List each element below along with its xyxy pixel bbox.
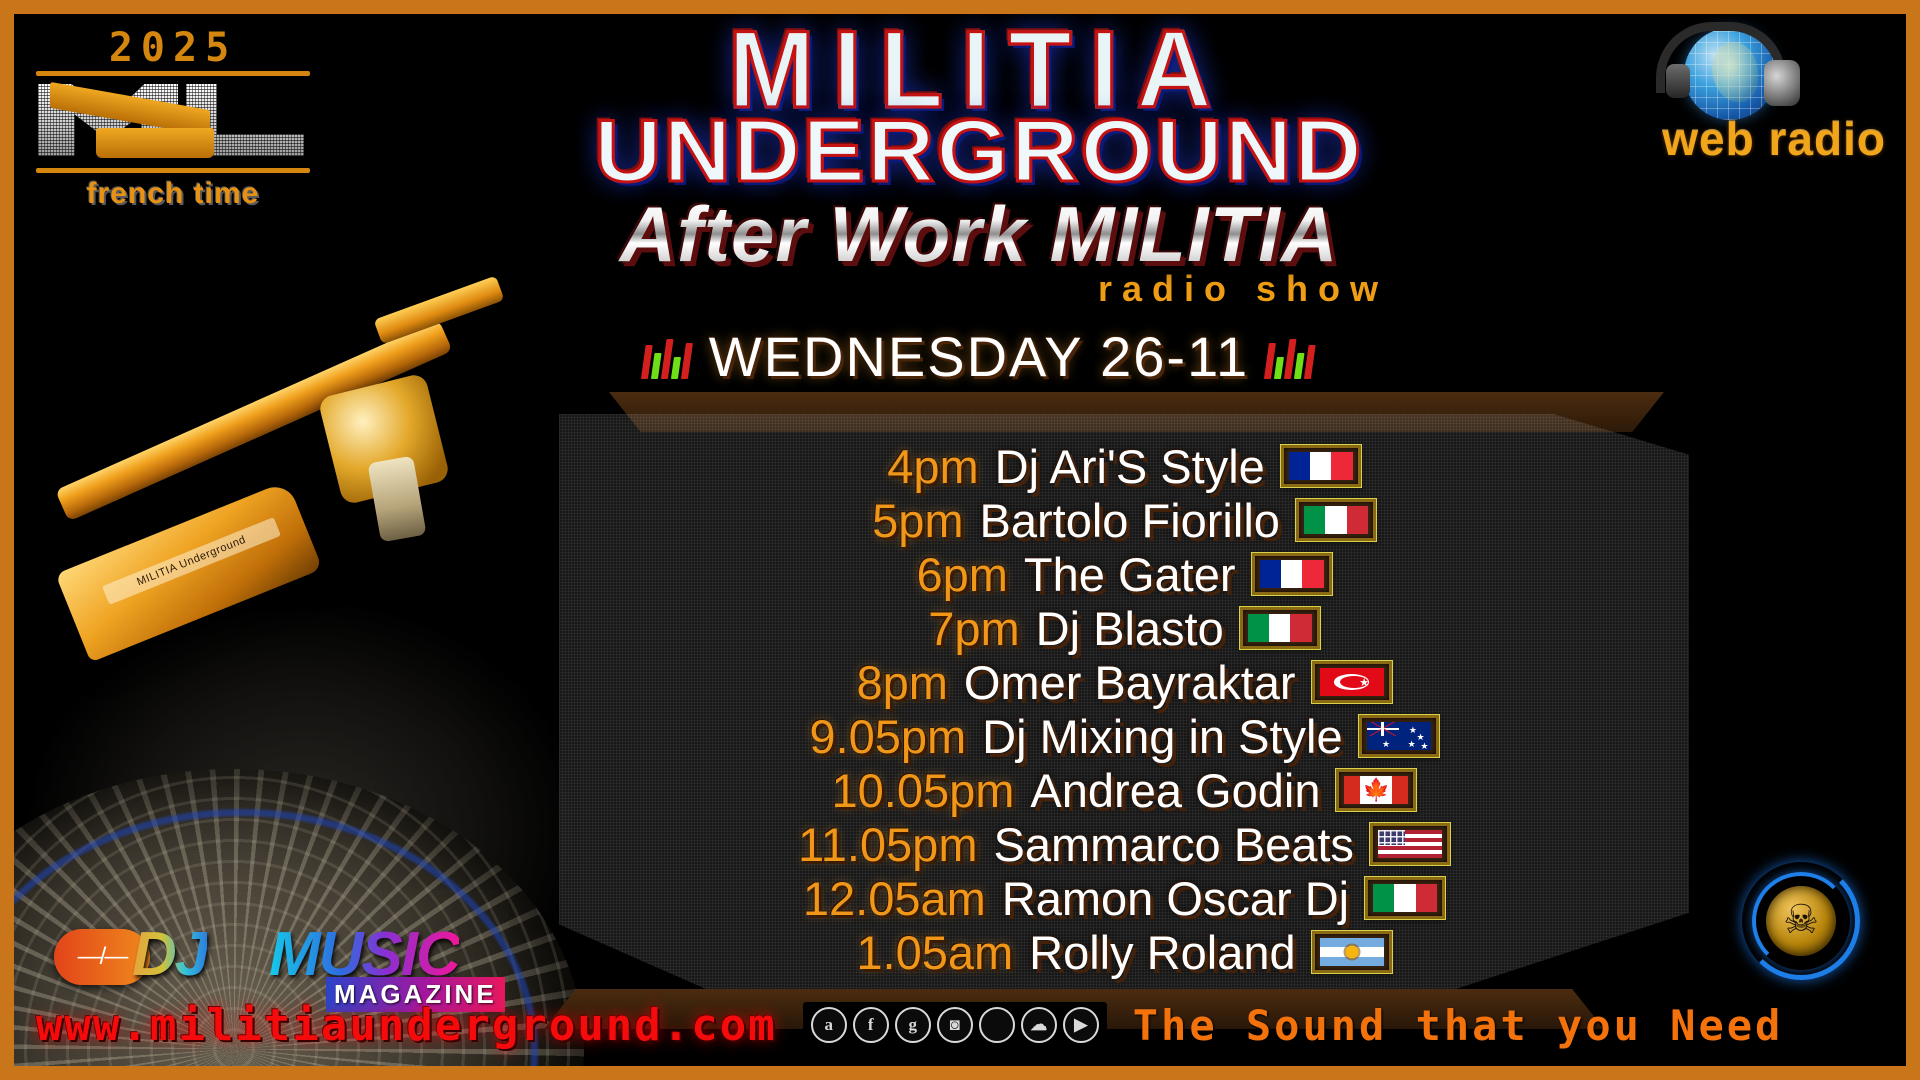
schedule-row[interactable]: 12.05amRamon Oscar Dj bbox=[559, 871, 1689, 925]
equalizer-bar bbox=[1304, 345, 1316, 379]
equalizer-bar bbox=[671, 357, 681, 379]
facebook-icon[interactable]: f bbox=[853, 1007, 889, 1043]
footer-bar: www.militiaunderground.com afg◙☁▶ The So… bbox=[14, 996, 1906, 1054]
turkey-flag-icon: ★ bbox=[1312, 661, 1392, 703]
schedule-dj-name: Bartolo Fiorillo bbox=[980, 493, 1280, 548]
schedule-time: 7pm bbox=[928, 601, 1019, 656]
equalizer-bar bbox=[1274, 357, 1284, 379]
social-icon-row: afg◙☁▶ bbox=[803, 1002, 1107, 1048]
france-flag-icon bbox=[1252, 553, 1332, 595]
title-block: MILITIA UNDERGROUND After Work MILITIA r… bbox=[314, 22, 1644, 310]
google-plus-icon[interactable]: g bbox=[895, 1007, 931, 1043]
tagline-label: The Sound that you Need bbox=[1133, 1001, 1784, 1050]
mu-monogram-icon bbox=[38, 80, 308, 166]
date-label: WEDNESDAY 26-11 bbox=[709, 324, 1249, 389]
italy-flag-icon bbox=[1296, 499, 1376, 541]
monogram-slash-lower bbox=[96, 128, 214, 158]
poster-root: MILITIA Underground 2025 french time web… bbox=[0, 0, 1920, 1080]
schedule-time: 10.05pm bbox=[832, 763, 1015, 818]
argentina-flag-icon bbox=[1312, 931, 1392, 973]
schedule-row[interactable]: 4pmDj Ari'S Style bbox=[559, 439, 1689, 493]
schedule-row[interactable]: 10.05pmAndrea Godin🍁 bbox=[559, 763, 1689, 817]
schedule-time: 6pm bbox=[916, 547, 1007, 602]
equalizer-bar bbox=[1294, 353, 1305, 379]
apple-icon[interactable] bbox=[979, 1007, 1015, 1043]
youtube-icon[interactable]: ▶ bbox=[1063, 1007, 1099, 1043]
schedule-time: 12.05am bbox=[803, 871, 986, 926]
headphone-cup-right bbox=[1764, 60, 1800, 106]
schedule-dj-name: Rolly Roland bbox=[1029, 925, 1295, 980]
sponsor-dj-text: DJ bbox=[132, 919, 207, 990]
schedule-row[interactable]: 8pmOmer Bayraktar★ bbox=[559, 655, 1689, 709]
equalizer-bars-icon-left bbox=[641, 335, 694, 379]
website-url[interactable]: www.militiaunderground.com bbox=[36, 1000, 777, 1051]
instagram-icon[interactable]: ◙ bbox=[937, 1007, 973, 1043]
schedule-time: 11.05pm bbox=[798, 817, 977, 872]
equalizer-bars-icon-right bbox=[1264, 335, 1317, 379]
schedule-dj-name: Dj Mixing in Style bbox=[982, 709, 1342, 764]
year-label: 2025 bbox=[28, 28, 318, 68]
schedule-time: 5pm bbox=[872, 493, 963, 548]
schedule-time: 9.05pm bbox=[809, 709, 966, 764]
schedule-row[interactable]: 11.05pmSammarco Beats bbox=[559, 817, 1689, 871]
schedule-row[interactable]: 1.05amRolly Roland bbox=[559, 925, 1689, 979]
headphone-cup-left bbox=[1666, 64, 1690, 98]
schedule-row[interactable]: 9.05pmDj Mixing in Style★★★★★ bbox=[559, 709, 1689, 763]
france-flag-icon bbox=[1281, 445, 1361, 487]
australia-flag-icon: ★★★★★ bbox=[1359, 715, 1439, 757]
skull-emblem-icon: ☠ bbox=[1742, 862, 1860, 980]
schedule-dj-name: Omer Bayraktar bbox=[964, 655, 1296, 710]
schedule-row[interactable]: 7pmDj Blasto bbox=[559, 601, 1689, 655]
italy-flag-icon bbox=[1365, 877, 1445, 919]
schedule-dj-name: Dj Blasto bbox=[1036, 601, 1224, 656]
date-line: WEDNESDAY 26-11 bbox=[314, 324, 1644, 389]
title-underground: UNDERGROUND bbox=[274, 112, 1684, 190]
schedule-row[interactable]: 5pmBartolo Fiorillo bbox=[559, 493, 1689, 547]
usa-flag-icon bbox=[1370, 823, 1450, 865]
schedule-time: 8pm bbox=[856, 655, 947, 710]
logo-rule-bottom bbox=[36, 168, 310, 173]
amazon-icon[interactable]: a bbox=[811, 1007, 847, 1043]
equalizer-bar bbox=[651, 353, 662, 379]
equalizer-bar bbox=[681, 343, 693, 379]
title-after-work-militia: After Work MILITIA bbox=[314, 196, 1644, 272]
schedule-dj-name: Dj Ari'S Style bbox=[995, 439, 1265, 494]
canada-flag-icon: 🍁 bbox=[1336, 769, 1416, 811]
logo-rule-top bbox=[36, 71, 310, 76]
schedule-dj-name: The Gater bbox=[1024, 547, 1236, 602]
schedule-list: 4pmDj Ari'S Style5pmBartolo Fiorillo6pmT… bbox=[559, 439, 1689, 979]
web-radio-label: web radio bbox=[1662, 112, 1886, 166]
soundcloud-icon[interactable]: ☁ bbox=[1021, 1007, 1057, 1043]
schedule-row[interactable]: 6pmThe Gater bbox=[559, 547, 1689, 601]
schedule-dj-name: Ramon Oscar Dj bbox=[1002, 871, 1349, 926]
schedule-time: 1.05am bbox=[856, 925, 1013, 980]
schedule-dj-name: Sammarco Beats bbox=[993, 817, 1353, 872]
skull-glyph: ☠ bbox=[1783, 900, 1819, 940]
schedule-time: 4pm bbox=[887, 439, 978, 494]
schedule-dj-name: Andrea Godin bbox=[1030, 763, 1320, 818]
italy-flag-icon bbox=[1240, 607, 1320, 649]
